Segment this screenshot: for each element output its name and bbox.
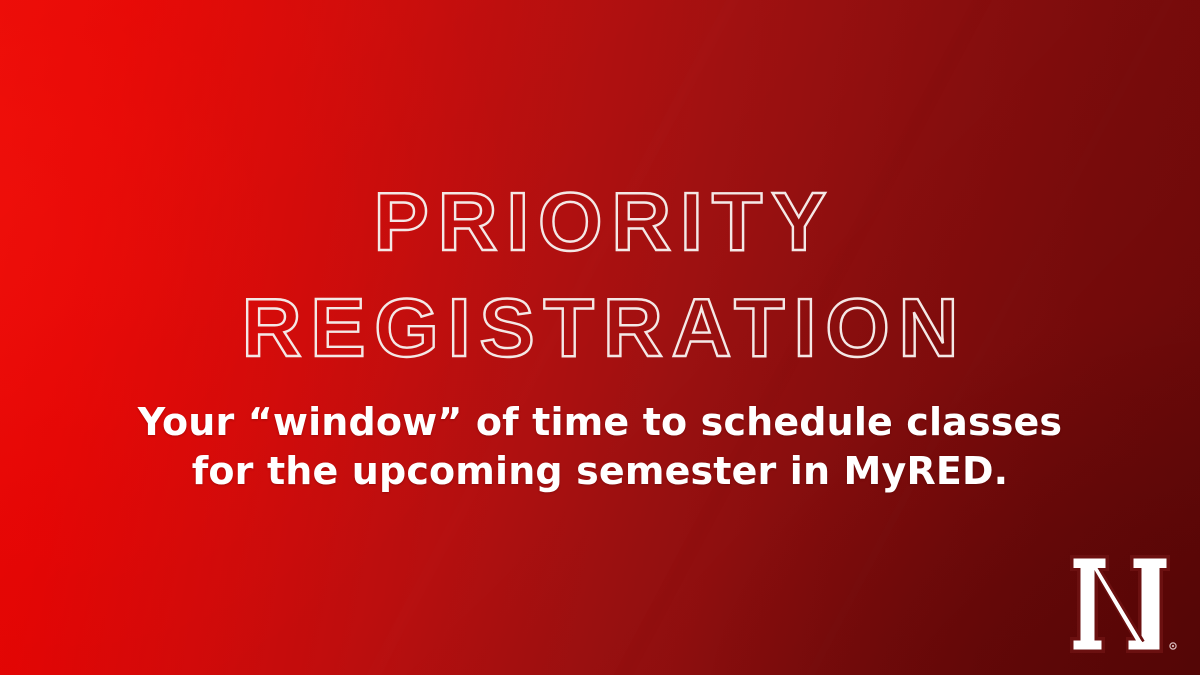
headline-line-1: PRIORITY bbox=[0, 182, 1200, 262]
nebraska-n-logo-icon bbox=[1054, 545, 1182, 663]
n-logo-diagonal-gap bbox=[1100, 569, 1144, 642]
nebraska-n-logo bbox=[1054, 545, 1182, 663]
subtitle-line-2: for the upcoming semester in MyRED. bbox=[0, 447, 1200, 496]
subtitle: Your “window” of time to schedule classe… bbox=[0, 398, 1200, 495]
headline: PRIORITY REGISTRATION bbox=[0, 182, 1200, 367]
registered-trademark-dot-icon bbox=[1172, 645, 1174, 647]
slide-content: PRIORITY REGISTRATION Your “window” of t… bbox=[0, 0, 1200, 675]
slide-canvas: PRIORITY REGISTRATION Your “window” of t… bbox=[0, 0, 1200, 675]
headline-line-2: REGISTRATION bbox=[0, 288, 1200, 368]
subtitle-line-1: Your “window” of time to schedule classe… bbox=[0, 398, 1200, 447]
